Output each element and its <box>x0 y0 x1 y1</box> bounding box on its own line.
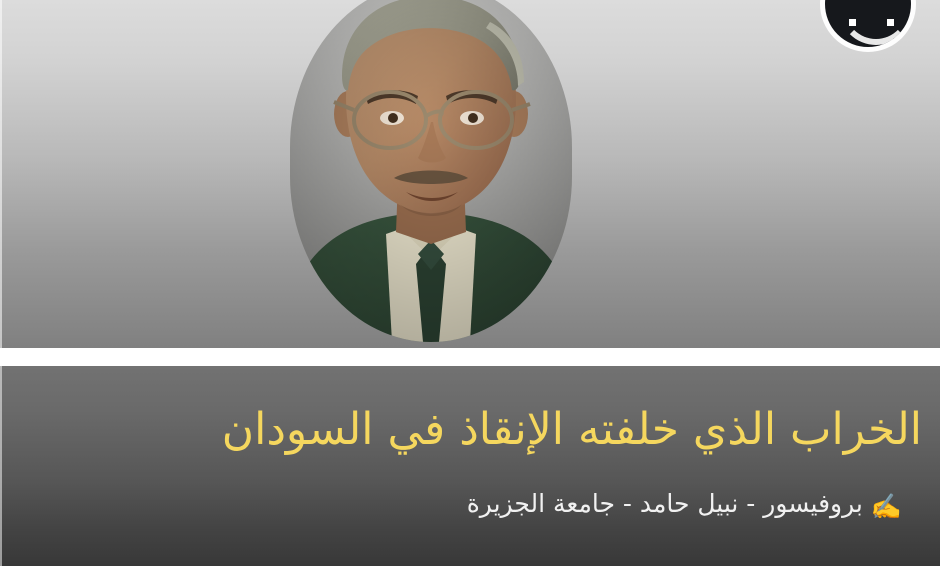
writing-hand-icon: ✍️ <box>871 491 902 524</box>
badge-dot-right-icon <box>887 19 894 26</box>
profile-badge-icon[interactable] <box>820 0 916 52</box>
article-headline: الخراب الذي خلفته الإنقاذ في السودان <box>18 404 922 456</box>
article-byline: ✍️بروفيسور - نبيل حامد - جامعة الجزيرة <box>18 488 902 524</box>
panel-separator <box>0 348 940 366</box>
photo-panel <box>0 0 940 348</box>
caption-panel: الخراب الذي خلفته الإنقاذ في السودان ✍️ب… <box>0 366 940 566</box>
bottom-strip <box>0 566 940 580</box>
article-card-screen: الخراب الذي خلفته الإنقاذ في السودان ✍️ب… <box>0 0 940 580</box>
badge-dot-left-icon <box>849 19 856 26</box>
byline-text: بروفيسور - نبيل حامد - جامعة الجزيرة <box>467 489 863 518</box>
portrait-photo <box>290 0 572 342</box>
